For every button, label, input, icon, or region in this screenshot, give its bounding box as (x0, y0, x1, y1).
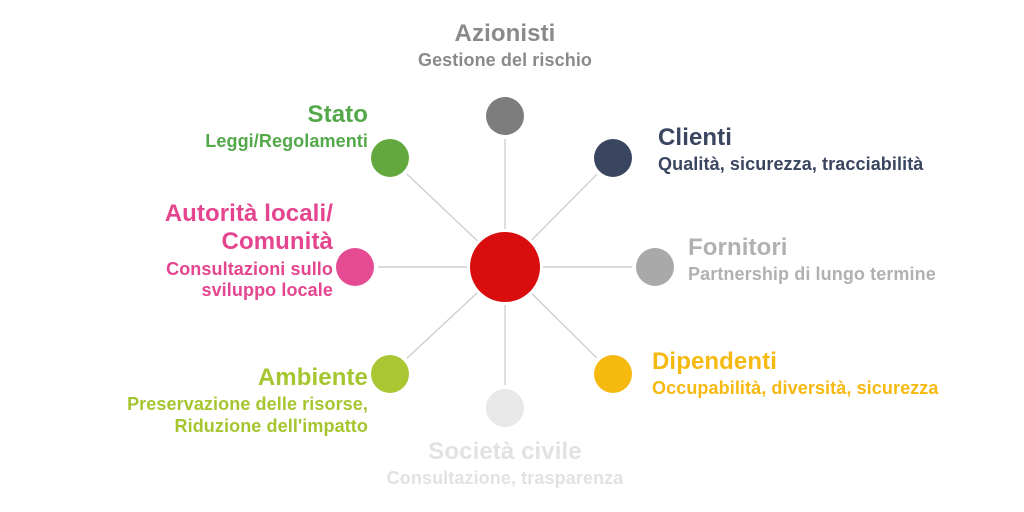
spoke-line-clienti (532, 174, 597, 240)
stakeholder-diagram: AzionistiGestione del rischioClientiQual… (0, 0, 1024, 512)
node-title-societa-civile: Società civile (290, 438, 720, 466)
node-title-autorita-locali: Autorità locali/Comunità (33, 200, 333, 257)
node-title-dipendenti: Dipendenti (652, 348, 1018, 376)
node-label-dipendenti: DipendentiOccupabilità, diversità, sicur… (652, 348, 1018, 400)
node-desc-autorita-locali: Consultazioni sullosviluppo locale (33, 259, 333, 301)
center-hub-circle (470, 232, 540, 302)
node-title-fornitori: Fornitori (688, 234, 1018, 262)
node-desc-stato: Leggi/Regolamenti (68, 131, 368, 152)
node-label-azionisti: AzionistiGestione del rischio (295, 20, 715, 72)
node-label-clienti: ClientiQualità, sicurezza, tracciabilità (658, 124, 1018, 176)
spoke-line-dipendenti (532, 294, 597, 358)
node-title-ambiente: Ambiente (18, 364, 368, 392)
node-dot-dipendenti[interactable] (594, 355, 632, 393)
spoke-line-stato (407, 174, 478, 241)
node-label-fornitori: FornitoriPartnership di lungo termine (688, 234, 1018, 286)
node-title-clienti: Clienti (658, 124, 1018, 152)
node-desc-ambiente: Preservazione delle risorse,Riduzione de… (18, 394, 368, 436)
node-desc-fornitori: Partnership di lungo termine (688, 264, 1018, 285)
node-desc-clienti: Qualità, sicurezza, tracciabilità (658, 154, 1018, 175)
node-dot-clienti[interactable] (594, 139, 632, 177)
node-dot-societa-civile[interactable] (486, 389, 524, 427)
node-title-azionisti: Azionisti (295, 20, 715, 48)
node-dot-fornitori[interactable] (636, 248, 674, 286)
node-dot-stato[interactable] (371, 139, 409, 177)
node-dot-ambiente[interactable] (371, 355, 409, 393)
node-label-ambiente: AmbientePreservazione delle risorse,Ridu… (18, 364, 368, 437)
node-desc-dipendenti: Occupabilità, diversità, sicurezza (652, 378, 1018, 399)
node-title-stato: Stato (68, 101, 368, 129)
spoke-line-ambiente (407, 293, 477, 358)
node-label-autorita-locali: Autorità locali/ComunitàConsultazioni su… (33, 200, 333, 301)
node-label-societa-civile: Società civileConsultazione, trasparenza (290, 438, 720, 490)
node-label-stato: StatoLeggi/Regolamenti (68, 101, 368, 153)
node-desc-azionisti: Gestione del rischio (295, 50, 715, 71)
node-desc-societa-civile: Consultazione, trasparenza (290, 468, 720, 489)
node-dot-azionisti[interactable] (486, 97, 524, 135)
node-dot-autorita-locali[interactable] (336, 248, 374, 286)
